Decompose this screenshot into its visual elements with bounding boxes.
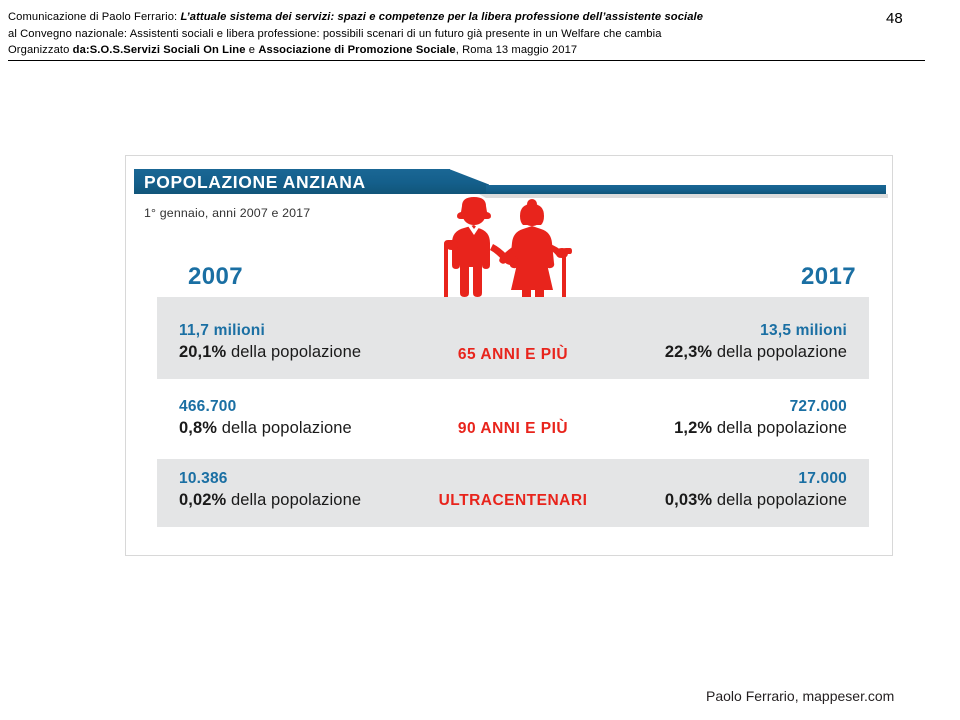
share-2017-90-tail: della popolazione	[712, 419, 847, 437]
card-header-bar-notch	[449, 169, 489, 194]
header-line-1-plain: Comunicazione di Paolo Ferrario:	[8, 11, 180, 23]
header-line-3-bold-b: Associazione di Promozione Sociale	[258, 44, 455, 56]
value-2007-ultracentenari: 10.386	[179, 468, 361, 489]
infographic-card: POPOLAZIONE ANZIANA 1° gennaio, anni 200…	[125, 155, 893, 556]
header-line-1-emphasis: L’attuale sistema dei servizi: spazi e c…	[180, 11, 703, 23]
footer-credit: Paolo Ferrario, mappeser.com	[706, 688, 894, 704]
share-2017-65: 22,3% della popolazione	[665, 341, 847, 364]
data-row-ultracentenari: 10.386 0,02% della popolazione ULTRACENT…	[157, 468, 869, 520]
header-line-3-plain-a: Organizzato	[8, 44, 73, 56]
header-line-1: Comunicazione di Paolo Ferrario: L’attua…	[8, 9, 836, 26]
slide-header: Comunicazione di Paolo Ferrario: L’attua…	[0, 0, 960, 62]
header-line-3: Organizzato da:S.O.S.Servizi Sociali On …	[8, 42, 836, 59]
cell-right-ultracentenari: 17.000 0,03% della popolazione	[665, 468, 847, 512]
share-2017-ultracentenari: 0,03% della popolazione	[665, 489, 847, 512]
value-2007-90: 466.700	[179, 396, 352, 417]
header-line-3-plain-c: , Roma 13 maggio 2017	[456, 44, 578, 56]
share-2017-90: 1,2% della popolazione	[674, 417, 847, 440]
value-2007-65: 11,7 milioni	[179, 320, 361, 341]
value-2017-ultracentenari: 17.000	[665, 468, 847, 489]
header-citation-block: Comunicazione di Paolo Ferrario: L’attua…	[8, 9, 836, 59]
header-line-3-plain-b: e	[246, 44, 259, 56]
header-line-2: al Convegno nazionale: Assistenti social…	[8, 26, 836, 43]
card-subtitle: 1° gennaio, anni 2007 e 2017	[144, 206, 310, 220]
share-2017-ultra-tail: della popolazione	[712, 491, 847, 509]
share-2017-65-number: 22,3%	[665, 343, 712, 361]
year-label-right: 2017	[801, 263, 856, 291]
data-row-90-anni: 466.700 0,8% della popolazione 90 ANNI E…	[157, 396, 869, 448]
value-2017-90: 727.000	[674, 396, 847, 417]
share-2017-90-number: 1,2%	[674, 419, 712, 437]
page-number: 48	[886, 10, 903, 27]
header-divider-rule	[8, 60, 925, 61]
value-2017-65: 13,5 milioni	[665, 320, 847, 341]
header-line-3-bold-a: da:S.O.S.Servizi Sociali On Line	[73, 44, 246, 56]
card-header-bar-tail	[486, 185, 886, 195]
cell-right-90: 727.000 1,2% della popolazione	[674, 396, 847, 440]
year-label-left: 2007	[188, 263, 243, 291]
card-title: POPOLAZIONE ANZIANA	[144, 172, 366, 193]
cell-right-65: 13,5 milioni 22,3% della popolazione	[665, 320, 847, 364]
share-2017-65-tail: della popolazione	[712, 343, 847, 361]
data-row-65-anni: 11,7 milioni 20,1% della popolazione 65 …	[157, 320, 869, 372]
share-2017-ultra-number: 0,03%	[665, 491, 712, 509]
